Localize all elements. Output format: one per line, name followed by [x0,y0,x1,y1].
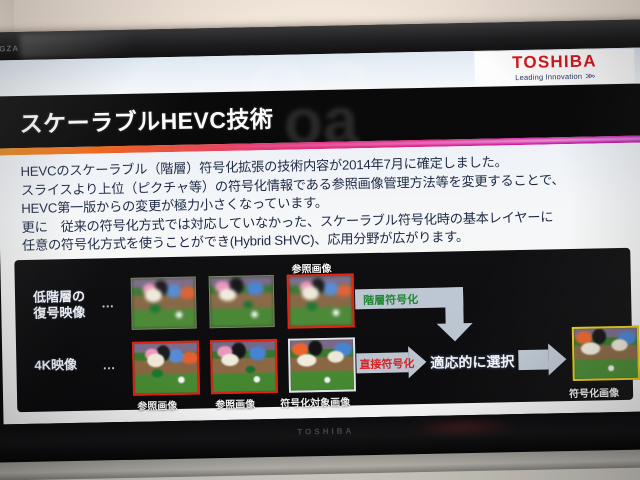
soccer-photo-icon [289,275,353,326]
arrow-label-direct: 直接符号化 [359,355,414,372]
slide-diagram: 低階層の 復号映像 … 4K映像 … [14,248,633,412]
arrow-label-hierarchical: 階層符号化 [363,291,418,308]
toshiba-tagline-text: Leading Innovation [515,72,582,82]
row-label-line-1: 低階層の [33,289,85,306]
tv-bezel: REGZA oa TOSHIBA Leading Innovation ≫› [0,19,640,464]
thumbnail-base-reference [287,273,355,328]
toshiba-bezel-logo: TOSHIBA [297,426,354,436]
toshiba-logo: TOSHIBA Leading Innovation ≫› [474,49,635,86]
arrow-hierarchical-vertical [445,287,464,325]
slide-body-text: HEVCのスケーラブル（階層）符号化拡張の技術内容が2014年7月に確定しました… [20,151,622,256]
thumbnail-base-1 [131,277,197,330]
photograph-scene: REGZA oa TOSHIBA Leading Innovation ≫› [0,0,640,480]
soccer-photo-icon [132,278,196,329]
soccer-photo-icon [134,343,198,394]
thumbnail-4k-target [288,337,356,392]
thumbnail-encoded-output [572,326,640,381]
caption-bottom-1: 参照画像 [137,397,177,413]
chevrons-icon: ≫› [585,72,594,81]
row-label-line-2: 復号映像 [33,305,85,322]
toshiba-tagline-row: Leading Innovation ≫› [515,72,594,83]
ellipsis-4k: … [102,357,116,372]
adaptive-selection-label: 適応的に選択 [430,351,514,373]
diagram-row-label-4k: 4K映像 [34,357,77,374]
arrow-output-head [548,343,567,375]
thumbnail-4k-reference-2 [210,339,278,394]
tv-screen: oa TOSHIBA Leading Innovation ≫› oa スケーラ… [0,48,640,425]
television-set: REGZA oa TOSHIBA Leading Innovation ≫› [0,19,640,464]
caption-top-reference: 参照画像 [291,260,331,276]
thumbnail-base-2 [209,275,275,328]
toshiba-wordmark: TOSHIBA [512,52,597,71]
soccer-photo-icon [290,339,354,390]
ellipsis-base-layer: … [101,295,115,310]
soccer-photo-icon [574,328,638,379]
soccer-photo-icon [210,276,274,327]
caption-encoded-output: 符号化画像 [569,384,619,400]
thumbnail-4k-reference-1 [132,340,200,395]
caption-bottom-3: 符号化対象画像 [280,393,350,409]
row-label-4k-line-1: 4K映像 [34,357,77,374]
bezel-reflection [20,31,180,58]
arrow-output-shaft [518,349,548,370]
bezel-red-reflection [408,418,518,436]
soccer-photo-icon [212,341,276,392]
regza-brand-label: REGZA [0,44,19,54]
caption-bottom-2: 参照画像 [215,395,255,411]
slide-body-area: HEVCのスケーラブル（階層）符号化拡張の技術内容が2014年7月に確定しました… [0,143,640,266]
diagram-row-label-base-layer: 低階層の 復号映像 [33,289,86,322]
arrow-hierarchical-head [437,323,473,342]
slide-title-text: スケーラブルHEVC技術 [19,100,274,139]
